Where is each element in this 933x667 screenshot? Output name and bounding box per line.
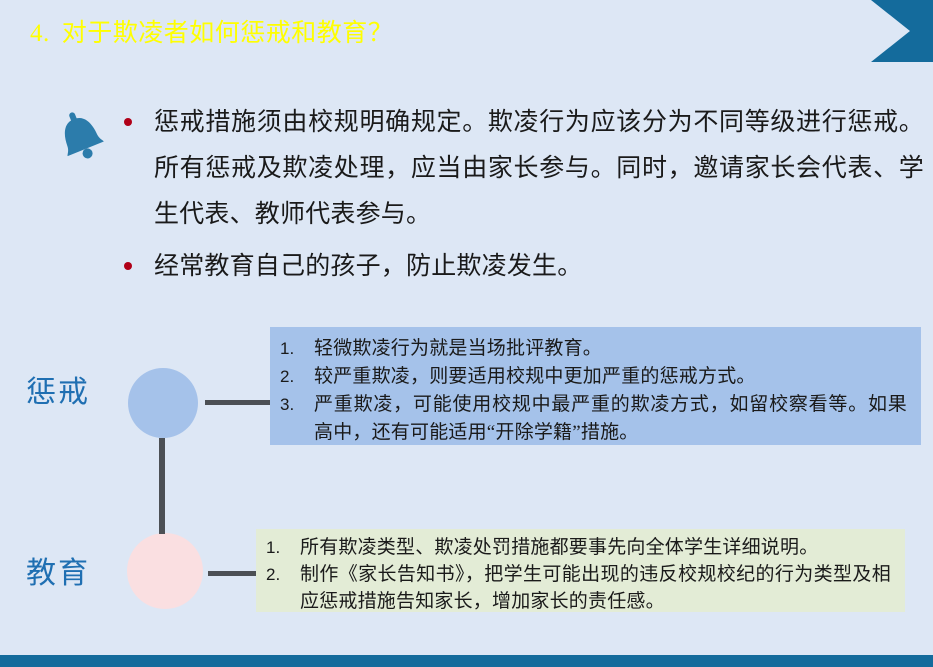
list-text: 严重欺凌，可能使用校规中最严重的欺凌方式，如留校察看等。如果高中，还有可能适用“… bbox=[314, 391, 907, 447]
list-item: 1. 所有欺凌类型、欺凌处罚措施都要事先向全体学生详细说明。 bbox=[266, 534, 891, 561]
list-item: 3. 严重欺凌，可能使用校规中最严重的欺凌方式，如留校察看等。如果高中，还有可能… bbox=[280, 391, 907, 447]
list-item: 经常教育自己的孩子，防止欺凌发生。 bbox=[124, 244, 924, 290]
content-box-discipline: 1. 轻微欺凌行为就是当场批评教育。 2. 较严重欺凌，则要适用校规中更加严重的… bbox=[270, 327, 921, 445]
footer-bar bbox=[0, 655, 933, 667]
connector-vertical bbox=[159, 438, 165, 534]
numbered-list: 1. 所有欺凌类型、欺凌处罚措施都要事先向全体学生详细说明。 2. 制作《家长告… bbox=[266, 534, 891, 615]
list-item: 1. 轻微欺凌行为就是当场批评教育。 bbox=[280, 335, 907, 363]
list-text: 所有欺凌类型、欺凌处罚措施都要事先向全体学生详细说明。 bbox=[300, 534, 891, 561]
node-circle-education bbox=[127, 533, 203, 609]
content-box-education: 1. 所有欺凌类型、欺凌处罚措施都要事先向全体学生详细说明。 2. 制作《家长告… bbox=[256, 529, 905, 612]
node-circle-discipline bbox=[128, 368, 198, 438]
slide-canvas: 4.对于欺凌者如何惩戒和教育？ 惩戒措施须由校规明确规定。欺凌行为应该分为不同等… bbox=[0, 0, 933, 667]
bullet-text: 经常教育自己的孩子，防止欺凌发生。 bbox=[154, 244, 924, 290]
list-text: 轻微欺凌行为就是当场批评教育。 bbox=[314, 335, 907, 363]
bullet-list: 惩戒措施须由校规明确规定。欺凌行为应该分为不同等级进行惩戒。所有惩戒及欺凌处理，… bbox=[124, 100, 924, 296]
list-marker: 2. bbox=[266, 561, 300, 588]
connector-discipline bbox=[205, 400, 270, 405]
bullet-dot-icon bbox=[124, 262, 132, 270]
page-title: 4.对于欺凌者如何惩戒和教育？ bbox=[30, 13, 393, 49]
bullet-text: 惩戒措施须由校规明确规定。欺凌行为应该分为不同等级进行惩戒。所有惩戒及欺凌处理，… bbox=[154, 100, 924, 238]
list-item: 惩戒措施须由校规明确规定。欺凌行为应该分为不同等级进行惩戒。所有惩戒及欺凌处理，… bbox=[124, 100, 924, 238]
list-marker: 3. bbox=[280, 391, 314, 419]
bell-icon bbox=[52, 108, 108, 164]
stage-label-education: 教育 bbox=[26, 548, 90, 592]
list-marker: 1. bbox=[280, 335, 314, 363]
stage-label-discipline: 惩戒 bbox=[26, 367, 90, 411]
title-label: 对于欺凌者如何惩戒和教育？ bbox=[62, 20, 394, 47]
list-marker: 1. bbox=[266, 534, 300, 561]
numbered-list: 1. 轻微欺凌行为就是当场批评教育。 2. 较严重欺凌，则要适用校规中更加严重的… bbox=[280, 335, 907, 447]
connector-education bbox=[208, 571, 258, 576]
list-item: 2. 制作《家长告知书》，把学生可能出现的违反校规校纪的行为类型及相应惩戒措施告… bbox=[266, 561, 891, 615]
bullet-dot-icon bbox=[124, 118, 132, 126]
list-text: 制作《家长告知书》，把学生可能出现的违反校规校纪的行为类型及相应惩戒措施告知家长… bbox=[300, 561, 891, 615]
list-text: 较严重欺凌，则要适用校规中更加严重的惩戒方式。 bbox=[314, 363, 907, 391]
title-number: 4. bbox=[30, 20, 50, 47]
list-marker: 2. bbox=[280, 363, 314, 391]
list-item: 2. 较严重欺凌，则要适用校规中更加严重的惩戒方式。 bbox=[280, 363, 907, 391]
